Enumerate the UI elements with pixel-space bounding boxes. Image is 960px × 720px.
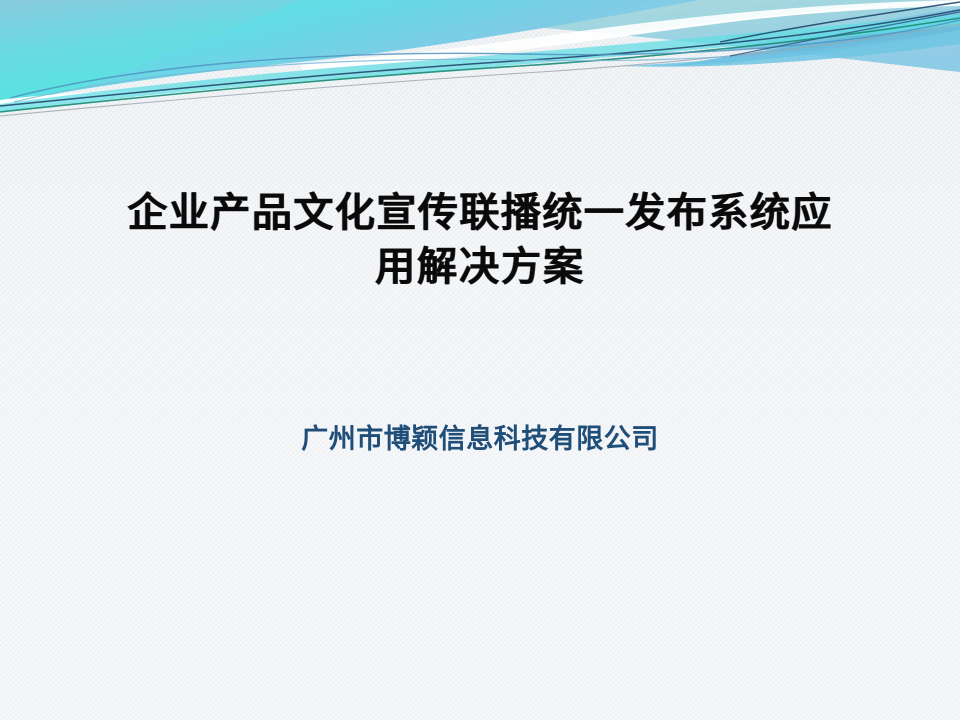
subtitle-company-name: 广州市博颖信息科技有限公司 — [60, 420, 900, 458]
banner-shape-pale-top — [0, 0, 960, 72]
banner-shape-blue-right-a — [724, 8, 960, 50]
banner-shape-blue-right-b — [668, 18, 960, 66]
title-line-2: 用解决方案 — [60, 240, 900, 294]
banner-shape-white-sliver — [300, 0, 960, 70]
banner-shape-blue-right-c — [620, 30, 960, 67]
banner-shape-white-ribbon — [0, 0, 960, 110]
background-texture — [0, 0, 960, 720]
background-gradient-wash — [0, 0, 960, 720]
banner-line-gray — [0, 24, 960, 116]
banner-line-navy — [0, 10, 960, 106]
banner-line-teal — [0, 18, 960, 112]
banner-line-navy-diagonal-b — [730, 12, 960, 56]
banner-shape-cyan-tail — [0, 14, 960, 112]
banner-shape-cyan-main — [0, 0, 700, 104]
banner-line-steel-arc-outer — [10, 20, 960, 98]
top-wave-banner-decoration — [0, 0, 960, 160]
page-title: 企业产品文化宣传联播统一发布系统应 用解决方案 — [60, 186, 900, 294]
banner-line-steel-arc-inner — [14, 26, 960, 102]
title-line-1: 企业产品文化宣传联播统一发布系统应 — [60, 186, 900, 240]
subtitle: 广州市博颖信息科技有限公司 — [60, 420, 900, 458]
banner-shape-cyan-left — [0, 0, 300, 104]
banner-line-navy-diagonal-a — [720, 2, 960, 42]
slide-canvas: 企业产品文化宣传联播统一发布系统应 用解决方案 广州市博颖信息科技有限公司 — [0, 0, 960, 720]
